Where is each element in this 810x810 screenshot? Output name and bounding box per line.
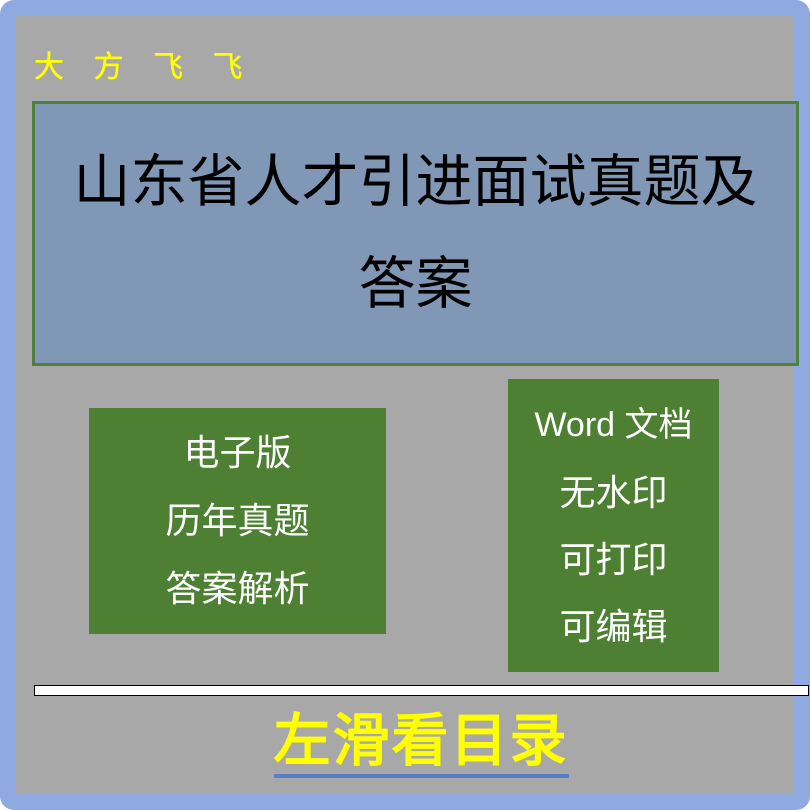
cta-container: 左滑看目录 [16,710,810,778]
feature-box-left: 电子版 历年真题 答案解析 [89,408,386,634]
feature-left-line-3: 答案解析 [165,555,309,623]
watermark-text: 大 方 飞 飞 [34,50,254,86]
poster-canvas: 大 方 飞 飞 山东省人才引进面试真题及 答案 电子版 历年真题 答案解析 Wo… [16,16,794,794]
title-panel: 山东省人才引进面试真题及 答案 [32,101,799,366]
feature-right-line-2: 无水印 [559,459,667,526]
divider-bar [34,685,809,696]
feature-left-line-1: 电子版 [183,419,291,487]
feature-right-line-1: Word 文档 [534,392,692,459]
cta-swipe-left-label[interactable]: 左滑看目录 [274,710,569,778]
page-title-line-1: 山东省人才引进面试真题及 [74,132,758,234]
feature-right-line-4: 可编辑 [559,593,667,660]
feature-left-line-2: 历年真题 [165,487,309,555]
feature-right-line-3: 可打印 [559,526,667,593]
feature-box-right: Word 文档 无水印 可打印 可编辑 [508,379,719,672]
poster-root: 大 方 飞 飞 山东省人才引进面试真题及 答案 电子版 历年真题 答案解析 Wo… [0,0,810,810]
page-title-line-2: 答案 [359,234,473,336]
